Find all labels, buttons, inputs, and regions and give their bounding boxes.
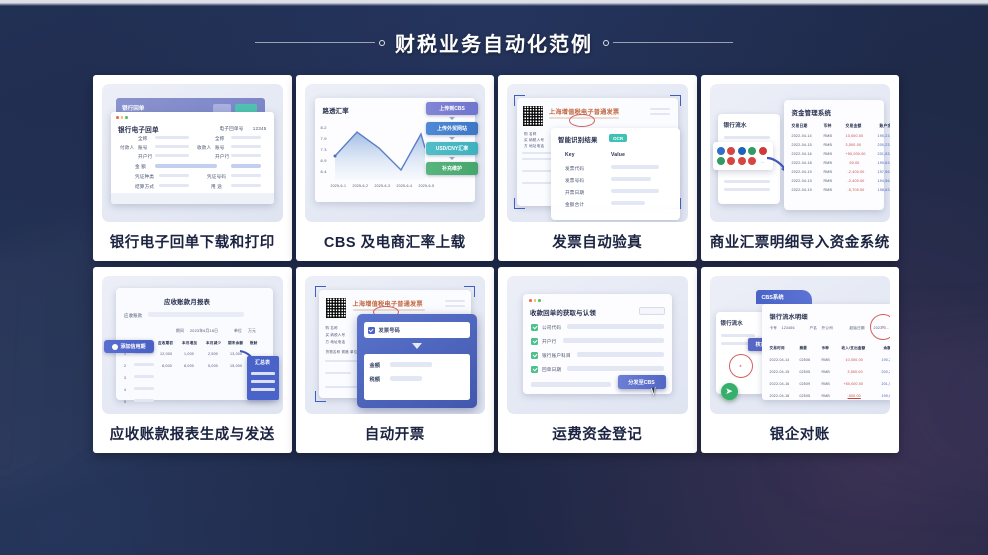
mock-period-label: 期间 [176,329,184,334]
cell-currency: RMB [824,179,833,183]
chart-ytick: 6.9 [321,158,327,163]
card-label-auto-invoicing: 自动开票 [296,414,495,453]
mock-field-fill [231,154,261,157]
mock-btn-label: 分发至CBS [628,379,655,386]
cell-decrease: 5,000 [208,364,218,368]
mock-check-label: 公司代码 [542,325,561,331]
mock-field-fill [231,184,261,187]
mock-doc-title: 银行电子回单 [118,124,159,134]
mock-check-label: 银行账户科目 [542,353,571,359]
cell-amount: 10,000.00 [846,134,864,138]
scan-corner-icon [315,286,326,297]
chart-ytick: 7.3 [321,147,327,152]
mock-skeleton-line [531,382,611,387]
mock-col-date: 交易日期 [792,124,808,129]
mock-ocr-row-key: 发票代码 [565,166,584,172]
mock-field-fill [155,154,189,157]
mock-btn-label: USD/CNY汇率 [436,145,469,152]
checkbox-checked-icon[interactable] [531,338,538,345]
card-label-ar-report-generate-send: 应收账款报表生成与发送 [93,414,292,453]
chevron-down-icon [449,137,455,140]
mock-upload-to-trade-site-button[interactable]: 上传外贸网站 [426,122,478,135]
card-thumbnail-draft-import: 银行流水 ... [710,84,891,222]
cell-balance: 190,234 [882,358,891,362]
bank-logo-icon [748,147,756,155]
mock-field-fill [159,174,189,177]
mock-table-title: 资金管理系统 [792,108,832,117]
mock-col-time: 交易时间 [770,346,785,351]
cell-date: 2022-04-19 [792,170,812,174]
mock-skeleton-line [724,188,770,191]
mock-col-inout: 收入/支出金额 [842,346,866,351]
mock-logo-more: ... [761,159,765,167]
cell-inout: -500.00 [848,394,861,398]
mock-summary-file-icon[interactable]: 汇总表 [247,356,279,400]
cell-currency: RMB [822,358,830,362]
cell-increase: 8,000 [184,364,194,368]
chart-xtick: 2025-6-5 [419,184,435,188]
cell-opening: 8,000 [162,364,172,368]
cell-balance: 201,534.00 [878,152,891,156]
mock-ocr-row-value [611,165,659,169]
card-label-freight-fund-registration: 运费资金登记 [498,414,697,453]
mock-supplement-maintain-button[interactable]: 补充维护 [426,162,478,175]
checkbox-checked-icon[interactable] [531,366,538,373]
cell-index: 5 [124,400,126,404]
cell-balance: 199,634.00 [878,161,891,165]
mock-check-field [567,324,664,329]
file-line [251,372,275,375]
mock-chart-title: 路透汇率 [323,106,349,115]
card-thumbnail-invoice-ocr: 上海增值税电子普通发票 购 名称 买 纳税人号 方 地址电话 智能识别结果 OC… [507,84,688,222]
cell-date: 2022-04-14 [792,134,812,138]
mock-usd-cny-rate-button[interactable]: USD/CNY汇率 [426,142,478,155]
mock-ocr-row-value [611,201,645,205]
card-thumbnail-auto-invoicing: 上海增值税电子普通发票 购 名称 买 纳税人号 方 地址电话 货物名称 规格 单… [305,276,486,414]
mock-amount-value [390,362,432,367]
cell-customer [134,387,154,390]
mock-ocr-row-key: 开票日期 [565,190,584,196]
card-bank-receipt-download-print[interactable]: 银行回单 银行电子回单 电子回单号 12345 付款人 收款人 全称 账号 开户… [93,75,292,261]
cell-currency: RMB [824,152,833,156]
mock-field-fill [155,136,189,139]
mock-btn-label: 上传到CBS [439,105,465,112]
bank-logo-icon [759,147,767,155]
checkbox-checked-icon[interactable] [368,327,375,334]
chevron-down-icon [412,343,422,349]
mock-ocr-row-value [611,189,659,193]
cell-amount: -2,400.00 [848,179,865,183]
cell-index: 3 [124,376,126,380]
title-decoration-right [603,40,733,46]
cell-opening: 12,000 [160,352,172,356]
mock-btn-label: 添加信用期 [120,343,145,350]
cell-balance: 200,234.00 [878,143,891,147]
card-label-commercial-draft-import: 商业汇票明细导入资金系统 [701,222,900,261]
mock-payee-label: 收款人 [197,145,211,151]
cell-inout: 10,000.00 [846,358,863,362]
card-commercial-draft-import[interactable]: 银行流水 ... [701,75,900,261]
scan-corner-icon [464,286,475,297]
mock-payer-label: 付款人 [120,145,134,151]
card-cbs-ecommerce-fx-upload[interactable]: 路透汇率 8.2 7.9 7.3 6.9 6.4 [296,75,495,261]
cell-currency: RMB [822,382,830,386]
cell-time: 2022-04-18 [770,394,790,398]
mock-add-credit-period-button[interactable]: 添加信用期 [104,340,154,353]
mock-doc-meta-value: 12345 [253,126,267,131]
mock-field-fill [231,145,261,148]
scan-corner-icon [315,391,326,402]
mock-doc-footer [111,193,274,204]
mock-traffic-lights [529,299,541,302]
chart-ytick: 6.4 [321,169,327,174]
cell-decrease: 2,500 [208,352,218,356]
mock-invoice-line: 货物名称 规格 单位 [326,350,358,355]
mock-check-field [563,338,664,343]
cell-balance: 200,234 [882,370,891,374]
cell-summary: 02505 [800,370,811,374]
cell-balance: 190,234.00 [878,134,891,138]
bank-logo-icon [727,157,735,165]
mock-amount-label: 金额 [370,362,381,369]
cell-index: 4 [124,388,126,392]
card-invoice-auto-verify[interactable]: 上海增值税电子普通发票 购 名称 买 纳税人号 方 地址电话 智能识别结果 OC… [498,75,697,261]
mock-unit-value: 万元 [248,329,256,334]
mock-col-increase: 本月增加 [182,341,197,346]
cell-index: 2 [124,364,126,368]
mock-ocr-row-value [611,177,651,181]
bank-logo-icon [738,147,746,155]
ocr-badge: OCR [609,134,627,142]
mock-invoice-line: 方 地址电话 [326,340,346,345]
mock-amount-tax-panel: 金额 税额 [364,354,471,400]
mock-invoice-rule [325,372,351,374]
mock-usage-label: 用 途 [211,184,222,190]
card-thumbnail-reconciliation: 银行流水 ★ ➤ 核对 CBS系统 银行流水明细 卡号 123456 户名 开公… [710,276,891,414]
cell-date: 2022-04-18 [792,161,812,165]
card-label-cbs-ecommerce-fx-upload: CBS 及电商汇率上载 [296,222,495,261]
bank-logo-icon [717,147,725,155]
cell-currency: RMB [822,370,830,374]
cell-currency: RMB [824,143,833,147]
mock-upload-to-cbs-button[interactable]: 上传到CBS [426,102,478,115]
mock-amount-fill [155,164,217,168]
cell-amount: 50.00 [850,161,860,165]
mock-col-decrease: 本月减少 [206,341,221,346]
mock-payee-name-label: 全称 [215,136,225,142]
cell-summary: 02506 [800,358,811,362]
mock-col-closing: 期末余额 [228,341,243,346]
red-seal-icon: ★ [729,354,753,378]
bank-logo-icon [748,157,756,165]
mock-invoice-line: 方 地址电话 [524,144,544,149]
cell-date: 2022-04-15 [792,143,812,147]
mock-btn-label: 补充维护 [442,165,462,172]
cell-currency: RMB [824,161,833,165]
cell-amount: -5,700.00 [848,188,865,192]
mock-invoice-line: 购 名称 [326,326,338,331]
mock-payee-account-label: 账号 [215,145,225,151]
card-auto-invoicing[interactable]: 上海增值税电子普通发票 购 名称 买 纳税人号 方 地址电话 货物名称 规格 单… [296,267,495,453]
cell-customer [134,375,154,378]
title-dot-right [603,40,609,46]
mock-skeleton-line [724,136,770,139]
mock-payer-bank-label: 开户行 [138,154,152,160]
example-card-grid: 银行回单 银行电子回单 电子回单号 12345 付款人 收款人 全称 账号 开户… [93,75,899,453]
mock-cbs-system-tab[interactable]: CBS系统 [756,290,812,304]
mock-tax-value [390,376,422,381]
mock-meta-value: 123456 [782,326,795,330]
cell-amount: +50,000.00 [846,152,866,156]
mock-invoice-meta [445,305,465,307]
mock-col-amount: 交易金额 [846,124,862,129]
mock-tab-label: CBS系统 [762,293,784,301]
checkbox-checked-icon[interactable] [531,324,538,331]
mock-payer-name-label: 全称 [138,136,148,142]
scan-corner-icon [514,198,525,209]
card-thumbnail-fx-chart: 路透汇率 8.2 7.9 7.3 6.9 6.4 [305,84,486,222]
card-bank-enterprise-reconciliation[interactable]: 银行流水 ★ ➤ 核对 CBS系统 银行流水明细 卡号 123456 户名 开公… [701,267,900,453]
cell-summary: 02505 [800,394,811,398]
cell-date: 2022-04-16 [792,152,812,156]
cell-customer [134,399,154,402]
mouse-cursor-icon [650,386,660,396]
mock-btn-label: 上传外贸网站 [437,125,467,132]
mock-meta-label: 起始日期 [850,326,865,331]
cell-amount: 3,500.00 [846,143,862,147]
cell-increase: 1,000 [184,352,194,356]
cell-date: 2022-04-19 [792,188,812,192]
mock-ocr-result-panel: 智能识别结果 OCR Key Value 发票代码 发票号码 开票日期 金额合计 [551,128,680,220]
mock-report-title: 应收账款月报表 [164,297,210,306]
bank-logo-icon [727,147,735,155]
chart-xtick: 2025-6-2 [353,184,369,188]
qr-code-icon [326,298,346,318]
mock-window-title: 银行回单 [122,104,144,112]
mock-invoice-no-field[interactable]: 发票号码 [364,322,471,338]
mock-tax-label: 税额 [370,376,381,383]
mock-col-balance: 账户余额 [880,124,891,129]
mock-skeleton-line [724,180,770,183]
mock-invoice-meta [650,108,670,110]
mock-col-aging: 账龄 [250,341,258,346]
card-label-invoice-auto-verify: 发票自动验真 [498,222,697,261]
cell-time: 2022-04-15 [770,370,790,374]
mock-voucher-type-label: 凭证种类 [135,174,154,180]
page-title: 财税业务自动化范例 [395,28,593,57]
mock-meta-label: 卡号 [770,326,778,331]
mock-panel-title: 收款回单的获取与认领 [530,308,596,317]
mock-bank-flow-title: 银行流水 [724,121,747,129]
card-freight-fund-registration[interactable]: 收款回单的获取与认领 公司代码 开户行 银行账户科目 回单日期 分发至CBS [498,267,697,453]
cell-currency: RMB [822,394,830,398]
mock-check-field [567,366,664,371]
mock-col-balance: 余额 [884,346,891,351]
mock-field-fill [155,145,189,148]
bank-logo-icon [717,157,725,165]
cell-inout: +50,000.00 [844,382,864,386]
mock-payee-bank-label: 开户行 [215,154,229,160]
cell-time: 2022-04-16 [770,382,790,386]
card-thumbnail-freight-fund: 收款回单的获取与认领 公司代码 开户行 银行账户科目 回单日期 分发至CBS [507,276,688,414]
mock-invoice-rule [325,360,359,362]
mock-receipt-document: 银行电子回单 电子回单号 12345 付款人 收款人 全称 账号 开户行 全称 … [111,112,274,204]
mock-field-fill [231,174,261,177]
cell-time: 2022-04-14 [770,358,790,362]
chart-ytick: 7.9 [321,136,327,141]
mock-col-opening: 应收期初 [158,341,173,346]
mock-table-title: 银行流水明细 [770,312,808,321]
title-dot-left [379,40,385,46]
red-seal-icon: ★ [870,314,890,340]
plus-circle-icon [112,344,118,350]
mock-ocr-col-value: Value [611,152,625,158]
mock-col-currency: 币种 [824,124,832,129]
cell-summary: 02509 [800,382,811,386]
cell-currency: RMB [824,170,833,174]
mock-skeleton-line [721,334,755,337]
chevron-down-icon [449,157,455,160]
mock-settle-label: 结算方式 [135,184,154,190]
mock-fund-system-table: 资金管理系统 交易日期 币种 交易金额 账户余额 2022-04-14 RMB … [784,100,885,210]
checkbox-checked-icon[interactable] [531,352,538,359]
mock-traffic-lights [116,116,128,119]
mock-check-label: 回单日期 [542,367,561,373]
mock-field-label: 发票号码 [379,327,401,334]
cell-currency: RMB [824,134,833,138]
page-title-row: 财税业务自动化范例 [0,28,988,57]
fx-area-chart [331,118,425,180]
file-line [251,388,275,391]
card-label-bank-receipt-download-print: 银行电子回单下载和打印 [93,222,292,261]
chart-xtick: 2025-6-4 [397,184,413,188]
mock-ocr-col-key: Key [565,152,575,158]
mock-check-field [577,352,664,357]
file-line [251,380,275,383]
mock-panel-button[interactable] [639,307,665,315]
mock-bank-logo-card: ... [713,142,773,170]
card-label-bank-enterprise-reconciliation: 银企对账 [701,414,900,453]
mock-meta-label: 户名 [810,326,818,331]
send-paper-plane-icon[interactable]: ➤ [721,383,738,400]
mock-amount-label: 金 额 [135,164,146,170]
mock-invoice-line: 买 纳税人号 [326,333,346,338]
mock-receipt-claim-panel: 收款回单的获取与认领 公司代码 开户行 银行账户科目 回单日期 分发至CBS [523,294,672,394]
mock-invoice-line: 买 纳税人号 [524,138,544,143]
chevron-down-icon [449,117,455,120]
mock-payer-account-label: 账号 [138,145,148,151]
cell-balance: 198,634.00 [878,188,891,192]
mock-bank-flow-panel: 银行流水 ★ [716,312,764,394]
cell-balance: 197,564.00 [878,170,891,174]
cell-date: 2022-04-19 [792,179,812,183]
mock-invoice-rule [522,170,552,172]
card-ar-report-generate-send[interactable]: 应收账款月报表 应收账款 期间 2023年6月16日 单位 万元 序号 客户名称… [93,267,292,453]
chart-ytick: 8.2 [321,125,327,130]
mock-doc-meta-label: 电子回单号 [220,126,244,132]
invoice-seal-icon [569,114,595,127]
mock-bank-flow-title: 银行流水 [721,319,743,327]
title-decoration-left [255,40,385,46]
mock-ocr-panel-title: 智能识别结果 [558,135,598,144]
mock-ocr-row-key: 金额合计 [565,202,584,208]
bank-logo-icon [738,157,746,165]
chart-xtick: 2025-6-3 [375,184,391,188]
cell-balance: 199,634 [882,394,891,398]
chart-xtick: 2025-6-1 [331,184,347,188]
scan-corner-icon [514,95,525,106]
cell-balance: 194,564.00 [878,179,891,183]
mock-voucher-no-label: 凭证号码 [207,174,226,180]
mock-unit-label: 单位 [234,329,242,334]
qr-code-icon [523,106,543,126]
card-thumbnail-ar-report: 应收账款月报表 应收账款 期间 2023年6月16日 单位 万元 序号 客户名称… [102,276,283,414]
mock-invoice-line: 购 名称 [524,132,537,137]
mock-invoice-meta [445,300,465,302]
mock-filter-label: 应收账款 [124,313,142,319]
mock-ocr-row-key: 发票号码 [565,178,584,184]
mock-meta-value: 开公司 [822,326,833,331]
mock-invoicing-form-panel: 发票号码 金额 税额 [357,314,478,408]
cell-balance: 201,534 [882,382,891,386]
mock-invoice-meta [650,113,670,115]
mock-bank-flow-detail-table: 银行流水明细 卡号 123456 户名 开公司 起始日期 2023-0... ★… [762,304,891,400]
mock-field-fill [231,136,261,139]
cell-customer [134,363,154,366]
scan-corner-icon [670,95,681,106]
cell-inout: 3,500.00 [848,370,863,374]
mock-field-fill [159,184,189,187]
mock-amount-fill-2 [231,164,261,168]
cell-amount: -2,400.00 [848,170,865,174]
mock-period-value: 2023年6月16日 [190,329,218,334]
card-thumbnail-bank-receipt: 银行回单 银行电子回单 电子回单号 12345 付款人 收款人 全称 账号 开户… [102,84,283,222]
mock-check-label: 开户行 [542,339,556,345]
title-line-left [255,42,375,43]
cell-currency: RMB [824,188,833,192]
mock-file-label: 汇总表 [255,359,270,366]
title-line-right [613,42,733,43]
mock-filter-input[interactable] [148,312,244,317]
mock-col-currency: 币种 [822,346,830,351]
mock-col-summary: 摘要 [800,346,808,351]
